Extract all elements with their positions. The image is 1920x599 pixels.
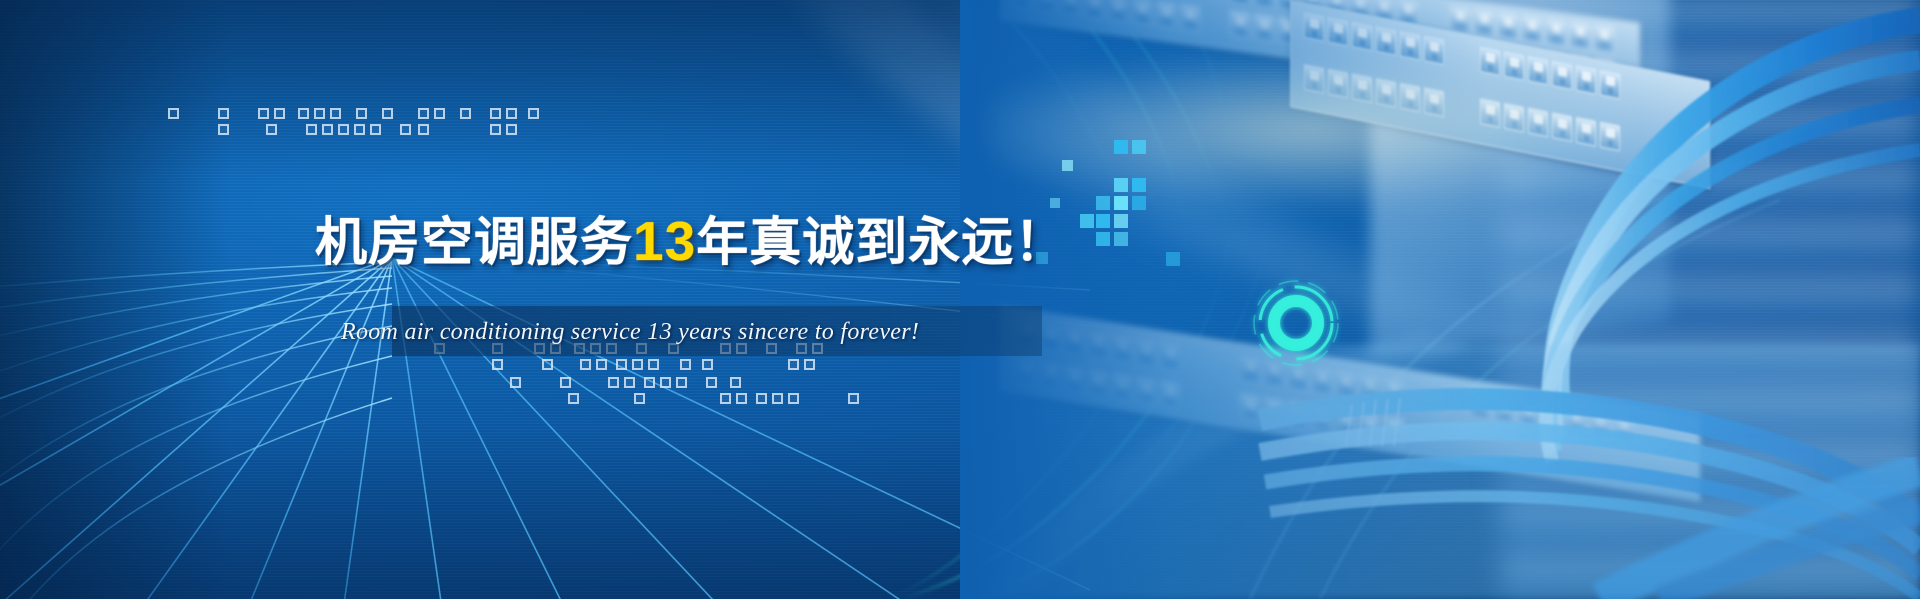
banner-text-block: 机房空调服务13年真诚到永远！ Room air conditioning se…	[0, 0, 1920, 599]
headline-years-number: 13	[633, 210, 696, 272]
page-title: 机房空调服务13年真诚到永远！	[315, 214, 1067, 269]
subtitle-text: Room air conditioning service 13 years s…	[341, 319, 919, 346]
hero-banner: 机房空调服务13年真诚到永远！ Room air conditioning se…	[0, 0, 1920, 599]
headline-suffix: 年真诚到永远！	[696, 214, 1067, 272]
headline-prefix: 机房空调服务	[315, 214, 633, 272]
